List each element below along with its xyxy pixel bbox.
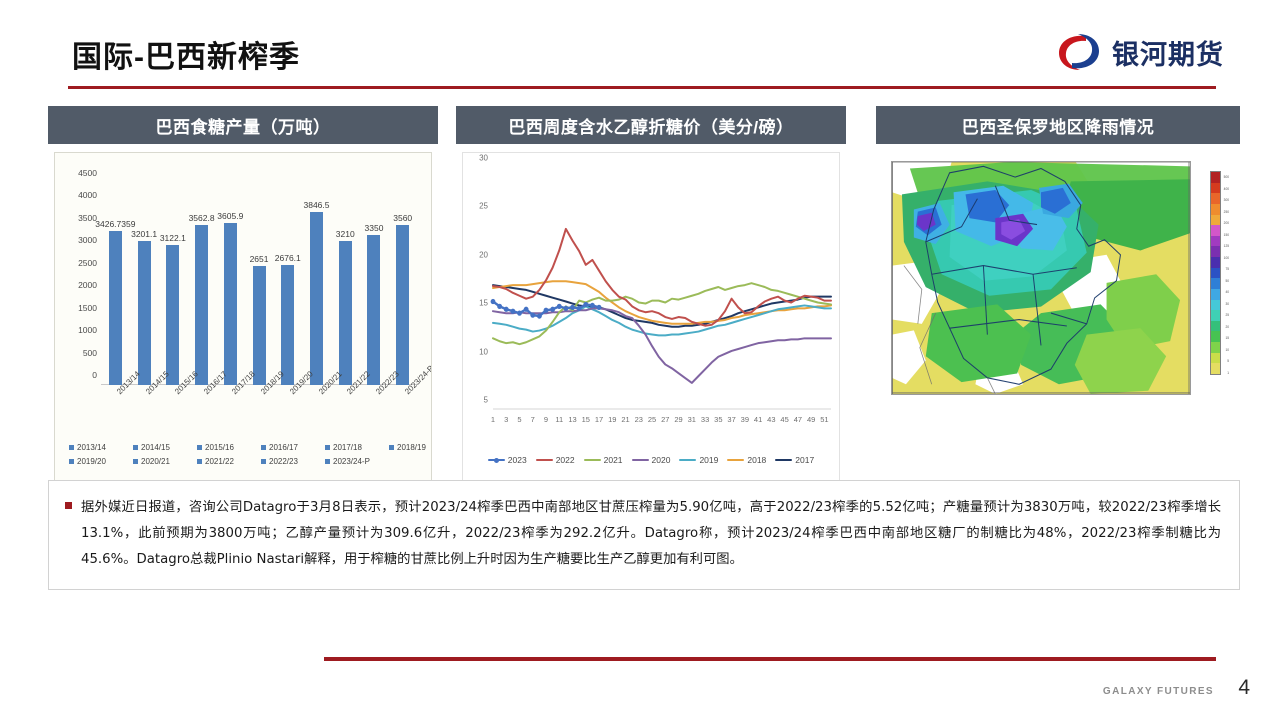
bar-y-tick: 4000	[78, 190, 97, 200]
line-x-tick: 11	[555, 415, 563, 424]
slide-header: 国际-巴西新榨季 银河期货	[0, 0, 1280, 92]
bar-legend-label: 2016/17	[269, 443, 298, 452]
bar-category-slot: 2017/18	[216, 385, 245, 419]
bar-legend: 2013/142014/152015/162016/172017/182018/…	[69, 443, 421, 471]
line-x-tick: 1	[491, 415, 495, 424]
brazil-precipitation-map-icon	[892, 162, 1190, 394]
line-x-tick: 29	[674, 415, 682, 424]
legend-swatch-icon	[389, 445, 394, 450]
bar-item[interactable]: 3210	[331, 183, 360, 385]
rainfall-map-image: 1510152025304050751001251502002503004005…	[884, 154, 1232, 402]
bar-legend-label: 2015/16	[205, 443, 234, 452]
bar-legend-label: 2018/19	[397, 443, 426, 452]
colorbar-segment	[1211, 225, 1220, 236]
legend-swatch-icon	[133, 459, 138, 464]
bar-category-slot: 2019/20	[273, 385, 302, 419]
panel-ethanol-price: 巴西周度含水乙醇折糖价（美分/磅） 51015202530 1357911131…	[456, 106, 846, 482]
colorbar-tick-label: 150	[1224, 233, 1229, 237]
bar-item[interactable]: 2651	[245, 183, 274, 385]
panel-title-ethanol-price: 巴西周度含水乙醇折糖价（美分/磅）	[456, 106, 846, 144]
colorbar-tick-label: 40	[1225, 290, 1229, 294]
line-marker	[557, 304, 562, 309]
line-x-tick: 17	[595, 415, 603, 424]
line-marker	[491, 299, 496, 304]
bar-series: 3426.73593201.13122.13562.83605.92651267…	[101, 183, 417, 385]
bar-value-label: 3562.8	[189, 213, 215, 223]
line-x-tick: 49	[807, 415, 815, 424]
bar-y-tick: 1500	[78, 303, 97, 313]
colorbar-tick-label: 200	[1224, 221, 1229, 225]
line-y-tick: 25	[479, 202, 488, 211]
colorbar-tick-label: 15	[1225, 336, 1229, 340]
bar-category-slot: 2015/16	[158, 385, 187, 419]
bar-legend-label: 2017/18	[333, 443, 362, 452]
bar[interactable]	[339, 241, 352, 385]
line-x-tick: 37	[727, 415, 735, 424]
bar-legend-item[interactable]: 2020/21	[133, 457, 197, 466]
bar-category-slot: 2020/21	[302, 385, 331, 419]
line-x-tick: 13	[568, 415, 576, 424]
line-marker	[544, 308, 549, 313]
line-legend-swatch-icon	[488, 457, 505, 463]
line-legend-item[interactable]: 2021	[584, 455, 623, 465]
slide: 国际-巴西新榨季 银河期货 巴西食糖产量（万吨） 050010001500200…	[0, 0, 1280, 720]
bar-item[interactable]: 3562.8	[187, 183, 216, 385]
colorbar-tick-label: 75	[1225, 267, 1229, 271]
bar-item[interactable]: 2676.1	[273, 183, 302, 385]
line-marker	[530, 312, 535, 317]
map-canvas	[891, 161, 1191, 395]
line-x-tick: 23	[635, 415, 643, 424]
line-marker	[497, 304, 502, 309]
bar-value-label: 3846.5	[304, 200, 330, 210]
bullet-item: 据外媒近日报道，咨询公司Datagro于3月8日表示，预计2023/24榨季巴西…	[49, 481, 1239, 573]
bar-legend-label: 2019/20	[77, 457, 106, 466]
legend-swatch-icon	[197, 459, 202, 464]
line-x-tick: 35	[714, 415, 722, 424]
line-y-tick: 30	[479, 154, 488, 163]
bar-category-slot: 2013/14	[101, 385, 130, 419]
line-marker	[504, 307, 509, 312]
line-x-tick: 7	[531, 415, 535, 424]
bar-category-slot: 2022/23	[360, 385, 389, 419]
logo-text: 银河期货	[1112, 33, 1224, 72]
bar[interactable]	[166, 245, 179, 385]
line-x-tick: 15	[582, 415, 590, 424]
colorbar-segment	[1211, 300, 1220, 311]
line-legend-label: 2019	[699, 455, 718, 465]
bar-legend-label: 2020/21	[141, 457, 170, 466]
line-marker	[577, 306, 582, 311]
map-colorbar-ticks: 1510152025304050751001251502002503004005…	[1221, 171, 1229, 375]
colorbar-tick-label: 300	[1224, 198, 1229, 202]
legend-swatch-icon	[325, 445, 330, 450]
bar[interactable]	[109, 231, 122, 385]
bullet-paragraph: 据外媒近日报道，咨询公司Datagro于3月8日表示，预计2023/24榨季巴西…	[81, 495, 1221, 573]
line-x-tick: 47	[794, 415, 802, 424]
line-legend-label: 2022	[556, 455, 575, 465]
line-series-svg	[493, 167, 831, 409]
colorbar-tick-label: 250	[1224, 210, 1229, 214]
bar-item[interactable]: 3201.1	[130, 183, 159, 385]
header-divider	[68, 86, 1216, 89]
colorbar-tick-label: 50	[1225, 279, 1229, 283]
line-marker	[583, 302, 588, 307]
line-legend-swatch-icon	[632, 457, 649, 463]
bar-legend-row: 2019/202020/212021/222022/232023/24-P	[69, 457, 421, 466]
bar-category-slot: 2023/24-P	[388, 385, 417, 419]
bar-legend-item[interactable]: 2016/17	[261, 443, 325, 452]
page-title: 国际-巴西新榨季	[72, 32, 300, 76]
bar-legend-item[interactable]: 2018/19	[389, 443, 432, 452]
legend-swatch-icon	[69, 459, 74, 464]
bar-category-axis: 2013/142014/152015/162016/172017/182018/…	[101, 385, 417, 419]
line-x-tick: 25	[648, 415, 656, 424]
bar-y-tick: 1000	[78, 325, 97, 335]
bar-item[interactable]: 3846.5	[302, 183, 331, 385]
bar-category-slot: 2016/17	[187, 385, 216, 419]
line-x-tick: 27	[661, 415, 669, 424]
legend-swatch-icon	[197, 445, 202, 450]
line-x-tick: 39	[741, 415, 749, 424]
line-legend-item[interactable]: 2023	[488, 455, 527, 465]
line-legend-item[interactable]: 2017	[775, 455, 814, 465]
bar-y-tick: 2000	[78, 280, 97, 290]
line-legend-label: 2018	[747, 455, 766, 465]
line-chart: 51015202530 1357911131517192123252729313…	[462, 152, 840, 482]
colorbar-tick-label: 10	[1225, 348, 1229, 352]
footer-brand: GALAXY FUTURES	[1103, 686, 1214, 697]
bar-legend-item[interactable]: 2022/23	[261, 457, 325, 466]
summary-textbox: 据外媒近日报道，咨询公司Datagro于3月8日表示，预计2023/24榨季巴西…	[48, 480, 1240, 590]
colorbar-segment	[1211, 172, 1220, 183]
line-marker	[597, 305, 602, 310]
bar-y-tick: 500	[83, 348, 97, 358]
bar-chart: 0500100015002000250030003500400045003426…	[54, 152, 432, 482]
company-logo: 银河期货	[1056, 32, 1224, 72]
line-x-tick: 5	[517, 415, 521, 424]
line-legend: 2023202220212020201920182017	[463, 455, 839, 465]
line-legend-swatch-icon	[536, 457, 553, 463]
colorbar-segment	[1211, 268, 1220, 279]
line-plot-area: 51015202530	[493, 167, 831, 409]
bar-value-label: 3560	[393, 213, 412, 223]
panel-body-rainfall-map: 1510152025304050751001251502002503004005…	[876, 154, 1240, 402]
line-x-tick: 9	[544, 415, 548, 424]
bar[interactable]	[396, 225, 409, 385]
legend-swatch-icon	[325, 459, 330, 464]
bar-legend-item[interactable]: 2013/14	[69, 443, 133, 452]
bar-legend-item[interactable]: 2021/22	[197, 457, 261, 466]
colorbar-tick-label: 500	[1224, 175, 1229, 179]
panel-title-rainfall-map: 巴西圣保罗地区降雨情况	[876, 106, 1240, 144]
bar-value-label: 3350	[365, 223, 384, 233]
colorbar-segment	[1211, 246, 1220, 257]
bar-legend-row: 2013/142014/152015/162016/172017/182018/…	[69, 443, 421, 452]
bar-legend-item[interactable]: 2017/18	[325, 443, 389, 452]
line-legend-swatch-icon	[584, 457, 601, 463]
bar-legend-label: 2014/15	[141, 443, 170, 452]
colorbar-segment	[1211, 353, 1220, 364]
map-colorbar	[1210, 171, 1221, 375]
colorbar-tick-label: 1	[1227, 371, 1229, 375]
colorbar-segment	[1211, 236, 1220, 247]
bar-value-label: 2676.1	[275, 253, 301, 263]
bar-legend-item[interactable]: 2023/24-P	[325, 457, 389, 466]
bar-item[interactable]: 3122.1	[158, 183, 187, 385]
line-x-tick: 21	[621, 415, 629, 424]
panel-sugar-production: 巴西食糖产量（万吨） 05001000150020002500300035004…	[48, 106, 438, 482]
bar-legend-label: 2021/22	[205, 457, 234, 466]
bar[interactable]	[138, 241, 151, 385]
colorbar-segment	[1211, 278, 1220, 289]
colorbar-segment	[1211, 331, 1220, 342]
line-legend-label: 2020	[652, 455, 671, 465]
line-legend-swatch-icon	[727, 457, 744, 463]
line-x-tick: 19	[608, 415, 616, 424]
line-marker	[517, 311, 522, 316]
bar-item[interactable]: 3350	[360, 183, 389, 385]
bar-item[interactable]: 3560	[388, 183, 417, 385]
colorbar-segment	[1211, 310, 1220, 321]
line-marker	[524, 307, 529, 312]
line-x-tick: 51	[820, 415, 828, 424]
colorbar-tick-label: 30	[1225, 302, 1229, 306]
bar-legend-item[interactable]: 2014/15	[133, 443, 197, 452]
panel-title-sugar-production: 巴西食糖产量（万吨）	[48, 106, 438, 144]
colorbar-segment	[1211, 215, 1220, 226]
bar[interactable]	[224, 223, 237, 385]
colorbar-tick-label: 400	[1224, 187, 1229, 191]
line-legend-swatch-icon	[679, 457, 696, 463]
line-series-2020	[493, 308, 831, 383]
line-x-tick: 43	[767, 415, 775, 424]
panel-rainfall-map: 巴西圣保罗地区降雨情况	[876, 106, 1240, 402]
bullet-square-icon	[65, 502, 72, 509]
line-y-tick: 10	[479, 347, 488, 356]
line-x-tick: 41	[754, 415, 762, 424]
bar-category-slot: 2021/22	[331, 385, 360, 419]
legend-swatch-icon	[261, 445, 266, 450]
line-legend-item[interactable]: 2022	[536, 455, 575, 465]
bar-item[interactable]: 3426.7359	[101, 183, 130, 385]
bar-value-label: 3201.1	[131, 229, 157, 239]
bar-legend-item[interactable]: 2015/16	[197, 443, 261, 452]
bar-category-slot: 2018/19	[245, 385, 274, 419]
colorbar-segment	[1211, 193, 1220, 204]
line-legend-label: 2021	[604, 455, 623, 465]
legend-swatch-icon	[261, 459, 266, 464]
panel-body-ethanol-price: 51015202530 1357911131517192123252729313…	[456, 152, 846, 482]
bar-plot-area: 0500100015002000250030003500400045003426…	[101, 183, 417, 385]
bar-y-tick: 3500	[78, 213, 97, 223]
colorbar-segment	[1211, 342, 1220, 353]
bar-y-tick: 4500	[78, 168, 97, 178]
bar-category-slot: 2014/15	[130, 385, 159, 419]
line-marker	[550, 307, 555, 312]
bar-value-label: 3605.9	[217, 211, 243, 221]
bar[interactable]	[310, 212, 323, 385]
bar[interactable]	[253, 266, 266, 385]
line-legend-item[interactable]: 2018	[727, 455, 766, 465]
bar-value-label: 3122.1	[160, 233, 186, 243]
colorbar-segment	[1211, 183, 1220, 194]
colorbar-tick-label: 125	[1224, 244, 1229, 248]
line-y-tick: 15	[479, 299, 488, 308]
colorbar-tick-label: 5	[1227, 359, 1229, 363]
colorbar-segment	[1211, 321, 1220, 332]
panel-body-sugar-production: 0500100015002000250030003500400045003426…	[48, 152, 438, 482]
legend-swatch-icon	[69, 445, 74, 450]
bar-y-tick: 2500	[78, 258, 97, 268]
bar[interactable]	[367, 235, 380, 385]
colorbar-tick-label: 25	[1225, 313, 1229, 317]
line-marker	[590, 303, 595, 308]
line-x-tick: 33	[701, 415, 709, 424]
colorbar-segment	[1211, 289, 1220, 300]
bar-legend-label: 2022/23	[269, 457, 298, 466]
footer-divider	[324, 657, 1216, 661]
legend-swatch-icon	[133, 445, 138, 450]
page-number: 4	[1238, 676, 1250, 700]
bar-value-label: 2651	[250, 254, 269, 264]
bar-legend-label: 2013/14	[77, 443, 106, 452]
colorbar-segment	[1211, 257, 1220, 268]
colorbar-tick-label: 20	[1225, 325, 1229, 329]
line-legend-item[interactable]: 2020	[632, 455, 671, 465]
bar-legend-label: 2023/24-P	[333, 457, 370, 466]
colorbar-segment	[1211, 363, 1220, 374]
line-marker	[570, 305, 575, 310]
bar-y-tick: 0	[92, 370, 97, 380]
line-y-tick: 5	[484, 396, 488, 405]
line-legend-swatch-icon	[775, 457, 792, 463]
bar[interactable]	[195, 225, 208, 385]
line-legend-item[interactable]: 2019	[679, 455, 718, 465]
line-marker	[537, 313, 542, 318]
line-y-tick: 20	[479, 250, 488, 259]
bar-y-tick: 3000	[78, 235, 97, 245]
line-legend-label: 2017	[795, 455, 814, 465]
colorbar-segment	[1211, 204, 1220, 215]
colorbar-tick-label: 100	[1224, 256, 1229, 260]
bar-value-label: 3210	[336, 229, 355, 239]
bar-item[interactable]: 3605.9	[216, 183, 245, 385]
line-x-tick: 31	[688, 415, 696, 424]
line-marker	[563, 306, 568, 311]
line-legend-label: 2023	[508, 455, 527, 465]
galaxy-swoosh-icon	[1056, 32, 1102, 72]
bar[interactable]	[281, 265, 294, 385]
line-marker	[510, 309, 515, 314]
line-x-tick: 45	[780, 415, 788, 424]
line-x-axis: 1357911131517192123252729313335373941434…	[493, 415, 831, 429]
line-x-tick: 3	[504, 415, 508, 424]
bar-legend-item[interactable]: 2019/20	[69, 457, 133, 466]
